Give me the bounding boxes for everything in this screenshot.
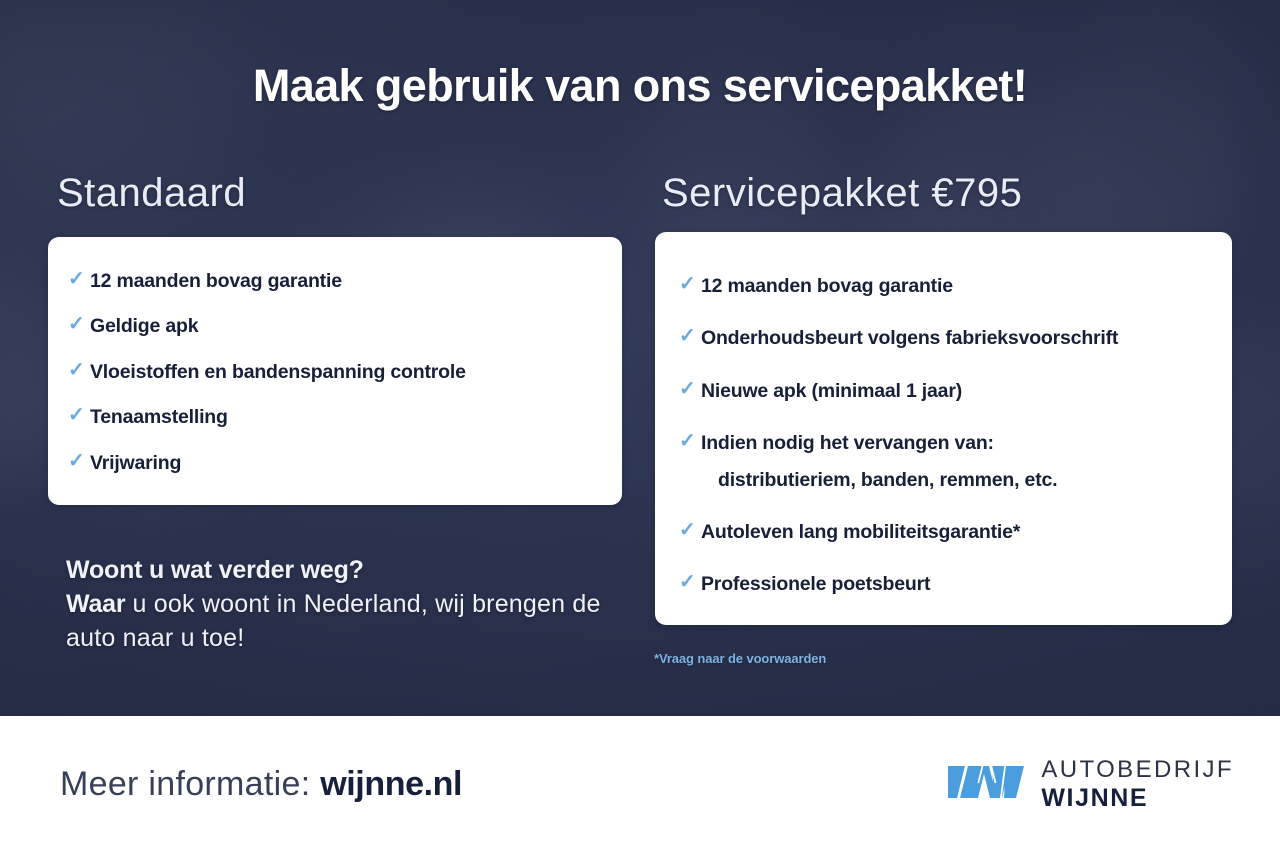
logo-line-autobedrijf: AUTOBEDRIJF bbox=[1041, 758, 1234, 782]
standaard-feature-list: ✓ 12 maanden bovag garantie ✓ Geldige ap… bbox=[48, 237, 622, 475]
check-icon: ✓ bbox=[68, 405, 90, 426]
standaard-feature-card: ✓ 12 maanden bovag garantie ✓ Geldige ap… bbox=[48, 237, 622, 505]
wijnne-w-logo-icon bbox=[948, 760, 1024, 809]
servicepakket-poster: Maak gebruik van ons servicepakket! Stan… bbox=[0, 0, 1280, 853]
logo-wordmark: AUTOBEDRIJF WIJNNE bbox=[1041, 758, 1234, 811]
list-item: ✓ Onderhoudsbeurt volgens fabrieksvoorsc… bbox=[679, 326, 1232, 350]
website-link[interactable]: wijnne.nl bbox=[320, 765, 462, 803]
check-icon: ✓ bbox=[68, 360, 90, 381]
column-heading-servicepakket: Servicepakket €795 bbox=[662, 173, 1022, 213]
list-item: ✓ Tenaamstelling bbox=[68, 405, 622, 429]
delivery-answer: Waar u ook woont in Nederland, wij breng… bbox=[66, 587, 606, 655]
logo-line-wijnne: WIJNNE bbox=[1041, 786, 1234, 811]
check-icon: ✓ bbox=[68, 451, 90, 472]
page-title: Maak gebruik van ons servicepakket! bbox=[0, 63, 1280, 108]
list-item: ✓ Nieuwe apk (minimaal 1 jaar) bbox=[679, 379, 1232, 403]
check-icon: ✓ bbox=[679, 431, 701, 452]
list-item: ✓ Autoleven lang mobiliteitsgarantie* bbox=[679, 520, 1232, 544]
servicepakket-footnote: *Vraag naar de voorwaarden bbox=[654, 651, 826, 666]
brand-logo[interactable]: AUTOBEDRIJF WIJNNE bbox=[948, 758, 1234, 811]
delivery-copy-block: Woont u wat verder weg? Waar u ook woont… bbox=[66, 553, 606, 655]
check-icon: ✓ bbox=[68, 314, 90, 335]
list-item: ✓ Professionele poetsbeurt bbox=[679, 572, 1232, 596]
check-icon: ✓ bbox=[679, 572, 701, 593]
servicepakket-feature-card: ✓ 12 maanden bovag garantie ✓ Onderhouds… bbox=[655, 232, 1232, 625]
list-item: ✓ Indien nodig het vervangen van: distri… bbox=[679, 431, 1232, 492]
servicepakket-feature-list: ✓ 12 maanden bovag garantie ✓ Onderhouds… bbox=[655, 232, 1232, 597]
column-heading-standaard: Standaard bbox=[57, 173, 246, 213]
list-item: ✓ Geldige apk bbox=[68, 314, 622, 338]
feature-sub-label: distributieriem, banden, remmen, etc. bbox=[701, 468, 1057, 492]
check-icon: ✓ bbox=[679, 379, 701, 400]
feature-label: Indien nodig het vervangen van: bbox=[701, 432, 994, 454]
delivery-question: Woont u wat verder weg? bbox=[66, 553, 606, 587]
list-item: ✓ 12 maanden bovag garantie bbox=[68, 269, 622, 293]
check-icon: ✓ bbox=[679, 326, 701, 347]
check-icon: ✓ bbox=[679, 520, 701, 541]
footer-bar: Meer informatie: wijnne.nl bbox=[0, 716, 1280, 853]
check-icon: ✓ bbox=[679, 274, 701, 295]
delivery-answer-strong: Waar bbox=[66, 590, 125, 618]
check-icon: ✓ bbox=[68, 269, 90, 290]
list-item: ✓ 12 maanden bovag garantie bbox=[679, 274, 1232, 298]
list-item: ✓ Vloeistoffen en bandenspanning control… bbox=[68, 360, 622, 384]
footer-info-label: Meer informatie: bbox=[60, 765, 320, 803]
list-item: ✓ Vrijwaring bbox=[68, 451, 622, 475]
footer-info-text: Meer informatie: wijnne.nl bbox=[60, 765, 462, 804]
delivery-answer-rest: u ook woont in Nederland, wij brengen de… bbox=[66, 590, 601, 652]
